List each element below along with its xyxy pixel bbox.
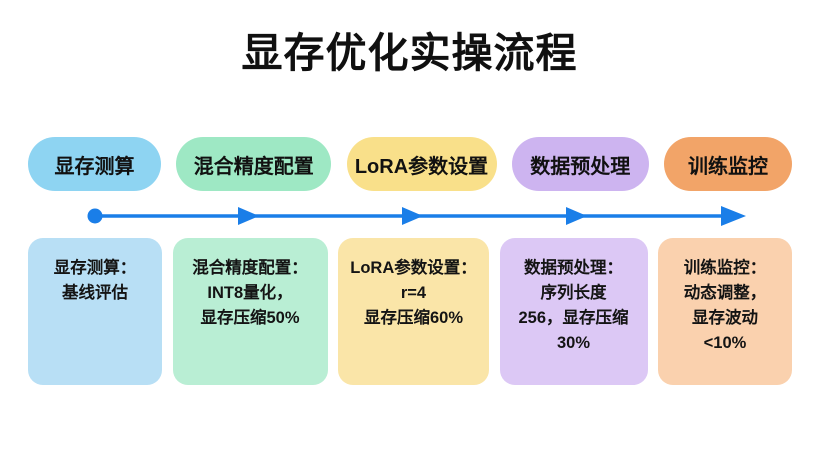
- stage-chip-label: 数据预处理: [530, 150, 630, 179]
- detail-card-line: 显存测算：: [36, 256, 154, 281]
- stage-chip-5[interactable]: 训练监控: [664, 137, 792, 191]
- detail-card-line: 显存波动: [666, 306, 784, 331]
- stage-chip-label: 显存测算: [55, 150, 135, 179]
- stage-chip-1[interactable]: 显存测算: [28, 137, 161, 191]
- process-arrow-timeline: [80, 198, 750, 234]
- timeline-svg: [80, 198, 750, 234]
- arrowhead-icon-2: [402, 207, 423, 225]
- arrowhead-icon-3: [566, 207, 587, 225]
- detail-card-line: 动态调整，: [666, 281, 784, 306]
- detail-card-line: 显存压缩60%: [346, 306, 481, 331]
- page-title: 显存优化实操流程: [0, 28, 819, 78]
- detail-card-line: LoRA参数设置：: [346, 256, 481, 281]
- detail-card-line: 基线评估: [36, 281, 154, 306]
- detail-card-5[interactable]: 训练监控： 动态调整， 显存波动 <10%: [658, 238, 792, 385]
- detail-card-line: INT8量化，: [181, 281, 320, 306]
- detail-card-line: r=4: [346, 281, 481, 306]
- stage-chip-label: 训练监控: [688, 150, 768, 179]
- timeline-start-dot-icon: [88, 209, 103, 224]
- detail-card-line: 256，显存压缩: [508, 306, 640, 331]
- stage-chip-label: 混合精度配置: [194, 150, 314, 179]
- detail-card-line: 混合精度配置：: [181, 256, 320, 281]
- detail-card-line: 序列长度: [508, 281, 640, 306]
- detail-card-2[interactable]: 混合精度配置： INT8量化， 显存压缩50%: [173, 238, 328, 385]
- stage-chip-row: 显存测算 混合精度配置 LoRA参数设置 数据预处理 训练监控: [28, 137, 792, 191]
- stage-chip-2[interactable]: 混合精度配置: [176, 137, 331, 191]
- detail-card-row: 显存测算： 基线评估 混合精度配置： INT8量化， 显存压缩50% LoRA参…: [28, 238, 792, 385]
- stage-chip-4[interactable]: 数据预处理: [512, 137, 649, 191]
- stage-chip-3[interactable]: LoRA参数设置: [347, 137, 497, 191]
- detail-card-3[interactable]: LoRA参数设置： r=4 显存压缩60%: [338, 238, 489, 385]
- stage-chip-label: LoRA参数设置: [355, 150, 488, 179]
- detail-card-line: 数据预处理：: [508, 256, 640, 281]
- detail-card-line: 训练监控：: [666, 256, 784, 281]
- slide-canvas: 显存优化实操流程 显存测算 混合精度配置 LoRA参数设置 数据预处理 训练监控: [0, 0, 819, 460]
- detail-card-4[interactable]: 数据预处理： 序列长度 256，显存压缩 30%: [500, 238, 648, 385]
- detail-card-line: 30%: [508, 331, 640, 356]
- detail-card-line: <10%: [666, 331, 784, 356]
- arrowhead-icon-4: [721, 206, 746, 226]
- detail-card-1[interactable]: 显存测算： 基线评估: [28, 238, 162, 385]
- detail-card-line: 显存压缩50%: [181, 306, 320, 331]
- arrowhead-icon-1: [238, 207, 259, 225]
